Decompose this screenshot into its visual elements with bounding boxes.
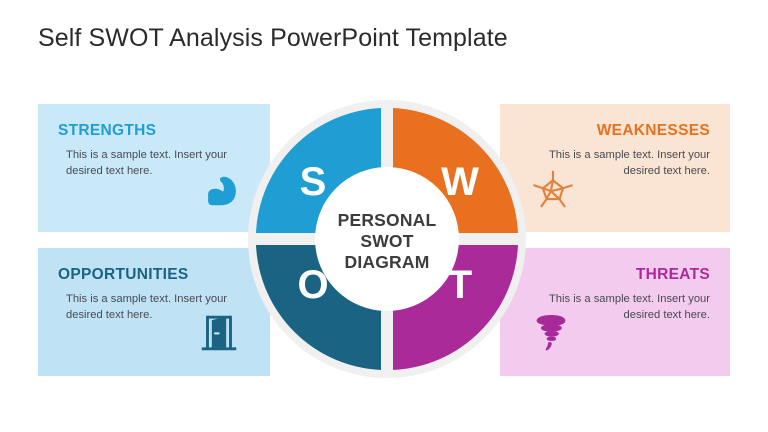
panel-heading-weaknesses: WEAKNESSES <box>518 122 710 139</box>
open-door-icon <box>196 310 242 356</box>
page-title: Self SWOT Analysis PowerPoint Template <box>38 24 508 53</box>
donut-letter-w: W <box>441 160 479 204</box>
donut-letter-s: S <box>300 160 327 204</box>
broken-star-icon <box>530 166 576 212</box>
center-title-line3: DIAGRAM <box>344 252 429 272</box>
panel-weaknesses[interactable]: WEAKNESSES This is a sample text. Insert… <box>500 104 730 232</box>
panel-heading-opportunities: OPPORTUNITIES <box>58 266 252 283</box>
center-title-line2: SWOT <box>360 231 413 251</box>
center-title-line1: PERSONAL <box>338 210 437 230</box>
swot-donut-diagram: S W O T PERSONAL SWOT DIAGRAM <box>246 98 528 380</box>
panel-strengths[interactable]: STRENGTHS This is a sample text. Insert … <box>38 104 270 232</box>
panel-heading-threats: THREATS <box>518 266 710 283</box>
flexed-bicep-icon <box>198 170 244 216</box>
panel-threats[interactable]: THREATS This is a sample text. Insert yo… <box>500 248 730 376</box>
tornado-icon <box>528 310 574 356</box>
slide-canvas: Self SWOT Analysis PowerPoint Template S… <box>0 0 768 432</box>
panel-opportunities[interactable]: OPPORTUNITIES This is a sample text. Ins… <box>38 248 270 376</box>
panel-heading-strengths: STRENGTHS <box>58 122 252 139</box>
